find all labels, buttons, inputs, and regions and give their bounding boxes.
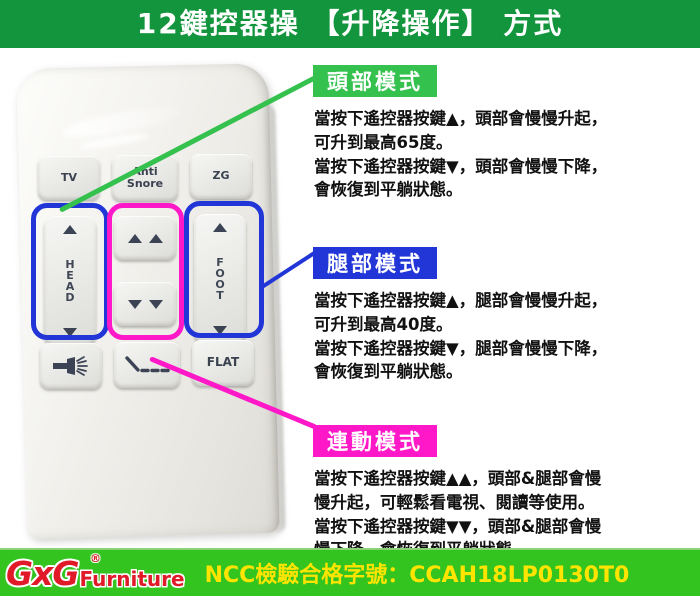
paragraph-leg-mode: 當按下遙控器按鍵▲，腿部會慢慢升起， 可升到最高40度。 當按下遙控器按鍵▼，腿… — [314, 289, 696, 384]
description-panel: 頭部模式 當按下遙控器按鍵▲，頭部會慢慢升起， 可升到最高65度。 當按下遙控器… — [300, 48, 700, 550]
text-line: 當按下遙控器按鍵▲▲，頭部&腿部會慢 — [314, 467, 696, 491]
key-zg-label: ZG — [212, 170, 229, 182]
brand-logo-sub: Furniture — [79, 569, 184, 589]
footer-bar: GxG ® Furniture NCC檢驗合格字號：CCAH18LP0130T0 — [0, 550, 700, 596]
page-title: 12鍵控器操 【升降操作】 方式 — [137, 10, 563, 38]
brand-logo-main: GxG — [6, 557, 78, 590]
ncc-certification-text: NCC檢驗合格字號：CCAH18LP0130T0 — [205, 557, 630, 589]
remote-right-edge-shadow — [263, 103, 286, 533]
text-line: 當按下遙控器按鍵▲，腿部會慢慢升起， — [314, 289, 696, 313]
text-line: 會恢復到平躺狀態。 — [314, 178, 696, 202]
registered-trademark-icon: ® — [90, 552, 101, 565]
brand-logo: GxG ® Furniture — [6, 550, 185, 596]
badge-sync-mode: 連動模式 — [313, 425, 437, 457]
key-flat-label: FLAT — [207, 356, 239, 369]
badge-leg-mode: 腿部模式 — [313, 247, 437, 279]
key-tv-label: TV — [61, 172, 77, 184]
key-zg[interactable]: ZG — [190, 154, 252, 199]
badge-head-mode: 頭部模式 — [313, 65, 437, 97]
remote-control-image: TV Anti Snore ZG HEAD — [0, 48, 300, 550]
header-bar: 12鍵控器操 【升降操作】 方式 — [0, 0, 700, 48]
highlight-box-sync — [107, 203, 184, 340]
infographic-root: 12鍵控器操 【升降操作】 方式 TV Anti Snore ZG HEAD — [0, 0, 700, 596]
key-anti-snore-label-2: Snore — [127, 178, 163, 190]
text-line: 可升到最高40度。 — [314, 313, 696, 337]
paragraph-head-mode: 當按下遙控器按鍵▲，頭部會慢慢升起， 可升到最高65度。 當按下遙控器按鍵▼，頭… — [314, 107, 696, 202]
highlight-box-head — [31, 203, 109, 340]
highlight-box-foot — [184, 201, 264, 338]
key-light[interactable] — [40, 343, 102, 389]
text-line: 會恢復到平躺狀態。 — [314, 360, 696, 384]
text-line: 慢升起，可輕鬆看電視、閱讀等使用。 — [314, 491, 696, 515]
flashlight-icon — [51, 355, 91, 377]
text-line: 當按下遙控器按鍵▲，頭部會慢慢升起， — [314, 107, 696, 131]
text-line: 當按下遙控器按鍵▼▼，頭部&腿部會慢 — [314, 515, 696, 539]
text-line: 當按下遙控器按鍵▼，頭部會慢慢下降， — [314, 155, 696, 179]
text-line: 當按下遙控器按鍵▼，腿部會慢慢下降， — [314, 337, 696, 361]
text-line: 可升到最高65度。 — [314, 131, 696, 155]
